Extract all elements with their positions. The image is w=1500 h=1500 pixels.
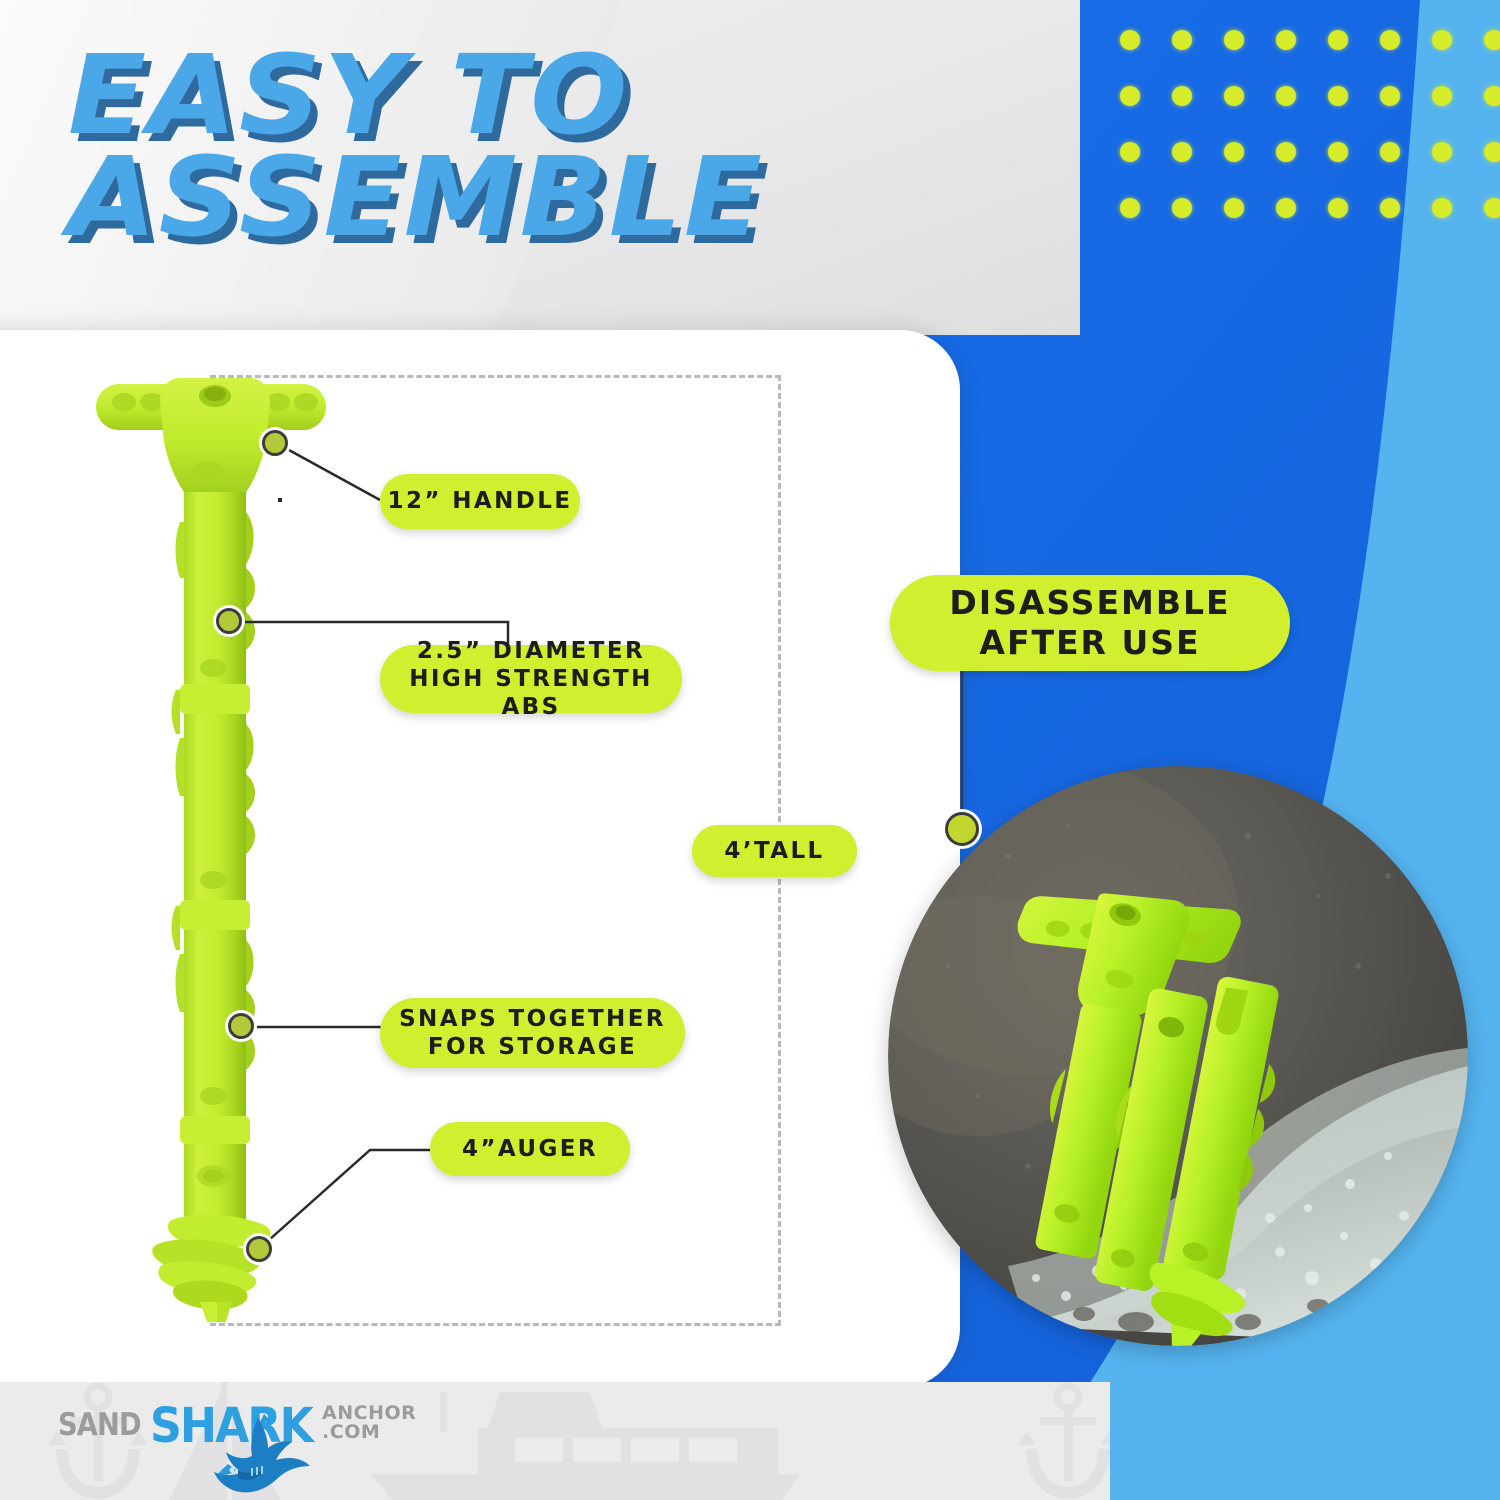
callout-dot-disassemble — [945, 812, 979, 846]
callout-label-disassemble[interactable]: DISASSEMBLE AFTER USE — [890, 575, 1290, 671]
callout-label-handle[interactable]: 12” HANDLE — [380, 474, 580, 529]
callout-dot-handle — [262, 430, 288, 456]
grid-dot — [1484, 142, 1500, 162]
grid-dot — [1224, 30, 1244, 50]
grid-dot — [1380, 30, 1400, 50]
grid-dot — [1172, 30, 1192, 50]
grid-dot — [1120, 30, 1140, 50]
callout-label-snaps[interactable]: SNAPS TOGETHER FOR STORAGE — [380, 998, 685, 1068]
grid-dot — [1276, 142, 1296, 162]
grid-dot — [1380, 86, 1400, 106]
grid-dot — [1172, 86, 1192, 106]
infographic-canvas: EASY TO ASSEMBLE — [0, 0, 1500, 1500]
callout-dot-auger — [246, 1236, 272, 1262]
grid-dot — [1224, 198, 1244, 218]
grid-dot — [1432, 30, 1452, 50]
grid-dot — [1276, 86, 1296, 106]
shark-icon — [198, 1412, 338, 1500]
grid-dot — [1484, 30, 1500, 50]
callout-label-height[interactable]: 4’TALL — [692, 825, 857, 877]
grid-dot — [1224, 86, 1244, 106]
grid-dot — [1276, 198, 1296, 218]
callout-label-auger[interactable]: 4”AUGER — [430, 1122, 630, 1176]
product-photo-circle — [888, 766, 1468, 1346]
grid-dot — [1328, 86, 1348, 106]
callout-line-auger — [246, 1136, 446, 1266]
product-shaft — [172, 492, 256, 1222]
grid-dot — [1432, 86, 1452, 106]
grid-dot — [1120, 86, 1140, 106]
grid-dot — [1380, 142, 1400, 162]
grid-dot — [1276, 30, 1296, 50]
grid-dot — [1380, 198, 1400, 218]
grid-dot — [1172, 198, 1192, 218]
grid-dot — [1328, 142, 1348, 162]
page-title: EASY TO ASSEMBLE — [68, 44, 764, 249]
callout-dot-diameter — [216, 608, 242, 634]
callout-label-diameter[interactable]: 2.5” DIAMETER HIGH STRENGTH ABS — [380, 645, 682, 713]
grid-dot — [1120, 142, 1140, 162]
grid-dot — [1328, 30, 1348, 50]
logo-text-sand: SAND — [58, 1407, 141, 1443]
brand-logo[interactable]: SAND SHARK ANCHOR .COM — [58, 1398, 416, 1454]
grid-dot — [1172, 142, 1192, 162]
decorative-dot-grid — [1120, 30, 1500, 254]
grid-dot — [1224, 142, 1244, 162]
grid-dot — [1484, 86, 1500, 106]
grid-dot — [1432, 142, 1452, 162]
grid-dot — [1120, 198, 1140, 218]
grid-dot — [1328, 198, 1348, 218]
grid-dot — [1432, 198, 1452, 218]
callout-dot-snaps — [228, 1013, 254, 1039]
grid-dot — [1484, 198, 1500, 218]
